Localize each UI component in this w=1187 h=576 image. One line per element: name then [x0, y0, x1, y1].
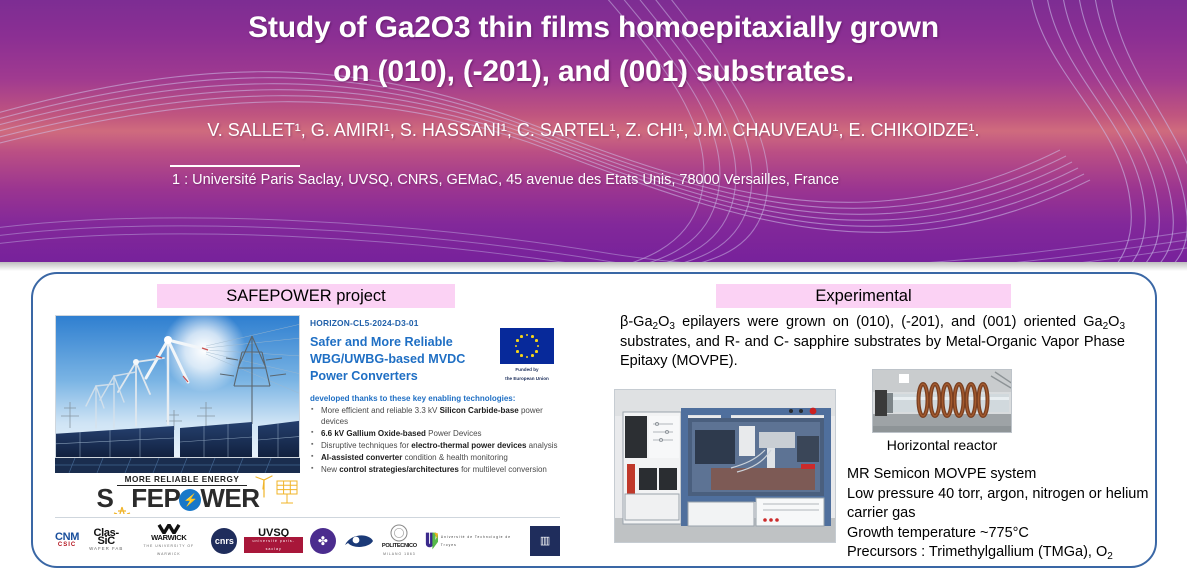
eu-star-icon	[531, 354, 534, 357]
partner-logo-clas-sic: Clas-SiC WAFER FAB	[86, 524, 126, 558]
list-item: Disruptive techniques for electro-therma…	[310, 441, 560, 452]
list-item: New control strategies/architectures for…	[310, 465, 560, 476]
spec-line-4: Precursors : Trimethylgallium (TMGa), O2	[847, 543, 1157, 564]
eu-star-icon	[535, 350, 538, 353]
partner-logo-swoosh	[343, 524, 375, 558]
partner-logo-warwick: WARWICK THE UNIVERSITY OF WARWICK	[133, 524, 204, 558]
partner-logo-circle-purple: ✤	[310, 524, 336, 558]
exp-p4: O	[1108, 314, 1119, 330]
section-header-safepower: SAFEPOWER project	[157, 284, 455, 308]
utt-mark-icon	[424, 530, 439, 552]
safepower-logo: MORE RELIABLE ENERGY S FEPWER	[55, 458, 300, 514]
flyer-text-column: HORIZON-CL5-2024-D3-01 Safer and More Re…	[310, 318, 560, 477]
title-line-2: on (010), (-201), and (001) substrates.	[0, 50, 1187, 94]
partner-logo-cnrs: cnrs	[211, 524, 237, 558]
flyer-project-title: Safer and More Reliable WBG/UWBG-based M…	[310, 334, 490, 385]
horizontal-reactor-caption: Horizontal reactor	[872, 437, 1012, 453]
list-item: 6.6 kV Gallium Oxide-based Power Devices	[310, 429, 560, 440]
renewable-energy-photo	[55, 315, 300, 458]
title-line-1: Study of Ga2O3 thin films homoepitaxiall…	[0, 6, 1187, 50]
spec-line-1: MR Semicon MOVPE system	[847, 465, 1157, 485]
eu-star-icon	[526, 334, 529, 337]
safepower-flyer: HORIZON-CL5-2024-D3-01 Safer and More Re…	[40, 312, 560, 564]
flyer-title-line-2: WBG/UWBG-based MVDC	[310, 351, 490, 368]
horizontal-reactor-figure: Horizontal reactor	[872, 369, 1012, 453]
partner-logo-politecnico: POLITECNICO MILANO 1863	[382, 524, 417, 558]
banner-drop-shadow	[0, 262, 1187, 271]
horizon-call-code: HORIZON-CL5-2024-D3-01	[310, 318, 560, 328]
affiliation: 1 : Université Paris Saclay, UVSQ, CNRS,…	[172, 170, 839, 190]
eu-star-icon	[520, 335, 523, 338]
partner-logo-uvsq: UVSQ université paris-saclay	[244, 524, 302, 558]
movpe-system-photo	[614, 389, 836, 543]
header-banner: Study of Ga2O3 thin films homoepitaxiall…	[0, 0, 1187, 262]
spec-line-4-text: Precursors : Trimethylgallium (TMGa), O	[847, 544, 1107, 560]
spec-line-3: Growth temperature ~775°C	[847, 524, 1157, 544]
page-title: Study of Ga2O3 thin films homoepitaxiall…	[0, 6, 1187, 94]
swoosh-icon	[343, 531, 375, 551]
affiliation-rule	[170, 165, 300, 167]
partner-logo-cnm-csic: CNM CSIC	[55, 524, 79, 558]
wordmark-part-2: FEP	[131, 483, 180, 513]
flyer-subtitle: developed thanks to these key enabling t…	[310, 394, 560, 403]
exp-p1: β-Ga	[620, 314, 653, 330]
eu-star-icon	[516, 339, 519, 342]
shield-bolt-icon	[179, 489, 201, 511]
exp-s2: 3	[669, 321, 675, 332]
exp-s4: 3	[1119, 321, 1125, 332]
author-list: V. SALLET¹, G. AMIRI¹, S. HASSANI¹, C. S…	[0, 118, 1187, 142]
horizontal-reactor-photo	[872, 369, 1012, 433]
exp-s3: 2	[1103, 321, 1109, 332]
eu-badge-line-2: the European Union	[496, 376, 558, 382]
partner-logos-row: CNM CSIC Clas-SiC WAFER FAB WARWICK THE …	[55, 517, 560, 561]
eu-star-icon	[537, 345, 540, 348]
poster-slide: Study of Ga2O3 thin films homoepitaxiall…	[0, 0, 1187, 576]
wind-turbine-icon	[254, 474, 274, 503]
eu-funding-badge: Funded by the European Union	[496, 328, 558, 382]
eu-star-icon	[520, 354, 523, 357]
eu-badge-line-1: Funded by	[496, 367, 558, 373]
experimental-paragraph: β-Ga2O3 epilayers were grown on (010), (…	[620, 313, 1125, 371]
solar-panel-icon	[276, 480, 298, 509]
spec-line-4-sub: 2	[1107, 551, 1113, 562]
growth-specs: MR Semicon MOVPE system Low pressure 40 …	[847, 465, 1157, 564]
wordmark-part-3: WER	[200, 483, 259, 513]
eu-star-icon	[526, 356, 529, 359]
spec-line-2: Low pressure 40 torr, argon, nitrogen or…	[847, 485, 1157, 524]
eu-star-icon	[515, 345, 518, 348]
flyer-title-line-1: Safer and More Reliable	[310, 334, 490, 351]
solar-panel-band-icon	[55, 458, 300, 473]
politecnico-seal-icon	[390, 524, 408, 542]
eu-star-icon	[531, 335, 534, 338]
section-header-experimental: Experimental	[716, 284, 1011, 308]
partner-logo-utt: Université de Technologie de Troyes	[424, 524, 523, 558]
partner-logo-navy-square: ▥	[530, 524, 560, 558]
exp-s1: 2	[653, 321, 659, 332]
eu-star-icon	[516, 350, 519, 353]
eu-flag-icon	[500, 328, 554, 364]
exp-p5: substrates, and R- and C- sapphire subst…	[620, 334, 1125, 369]
wordmark-part-1: S	[96, 483, 113, 513]
key-technologies-list: More efficient and reliable 3.3 kV Silic…	[310, 406, 560, 475]
exp-p3: epilayers were grown on (010), (-201), a…	[675, 314, 1103, 330]
flyer-title-line-3: Power Converters	[310, 368, 490, 385]
list-item: More efficient and reliable 3.3 kV Silic…	[310, 406, 560, 427]
list-item: AI-assisted converter condition & health…	[310, 453, 560, 464]
eu-star-icon	[535, 339, 538, 342]
exp-p2: O	[658, 314, 669, 330]
